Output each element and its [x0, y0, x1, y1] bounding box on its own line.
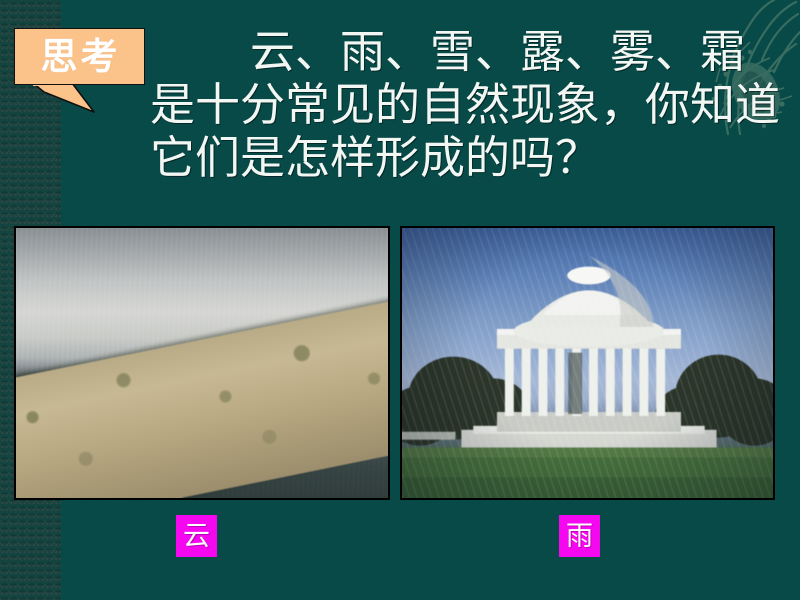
presentation-slide: 思考 云、雨、雪、露、雾、霜是十分常见的自然现象，你知道它们是怎样形成的吗？: [0, 0, 800, 600]
caption-box-rain: 雨: [559, 515, 600, 557]
callout-label: 思考: [39, 38, 121, 75]
rain-photo-blur: [402, 228, 773, 498]
caption-label-cloud: 云: [183, 523, 210, 550]
callout-tail-icon: [32, 83, 96, 113]
callout-bubble: 思考: [14, 28, 145, 85]
caption-box-cloud: 云: [176, 515, 217, 557]
callout-box: 思考: [14, 28, 145, 85]
cloud-photo-blur: [16, 228, 388, 498]
photo-storm-clouds: [14, 226, 390, 500]
headline-text: 云、雨、雪、露、雾、霜是十分常见的自然现象，你知道它们是怎样形成的吗？: [150, 26, 780, 185]
caption-label-rain: 雨: [566, 523, 593, 550]
photo-rain-memorial: [400, 226, 775, 500]
